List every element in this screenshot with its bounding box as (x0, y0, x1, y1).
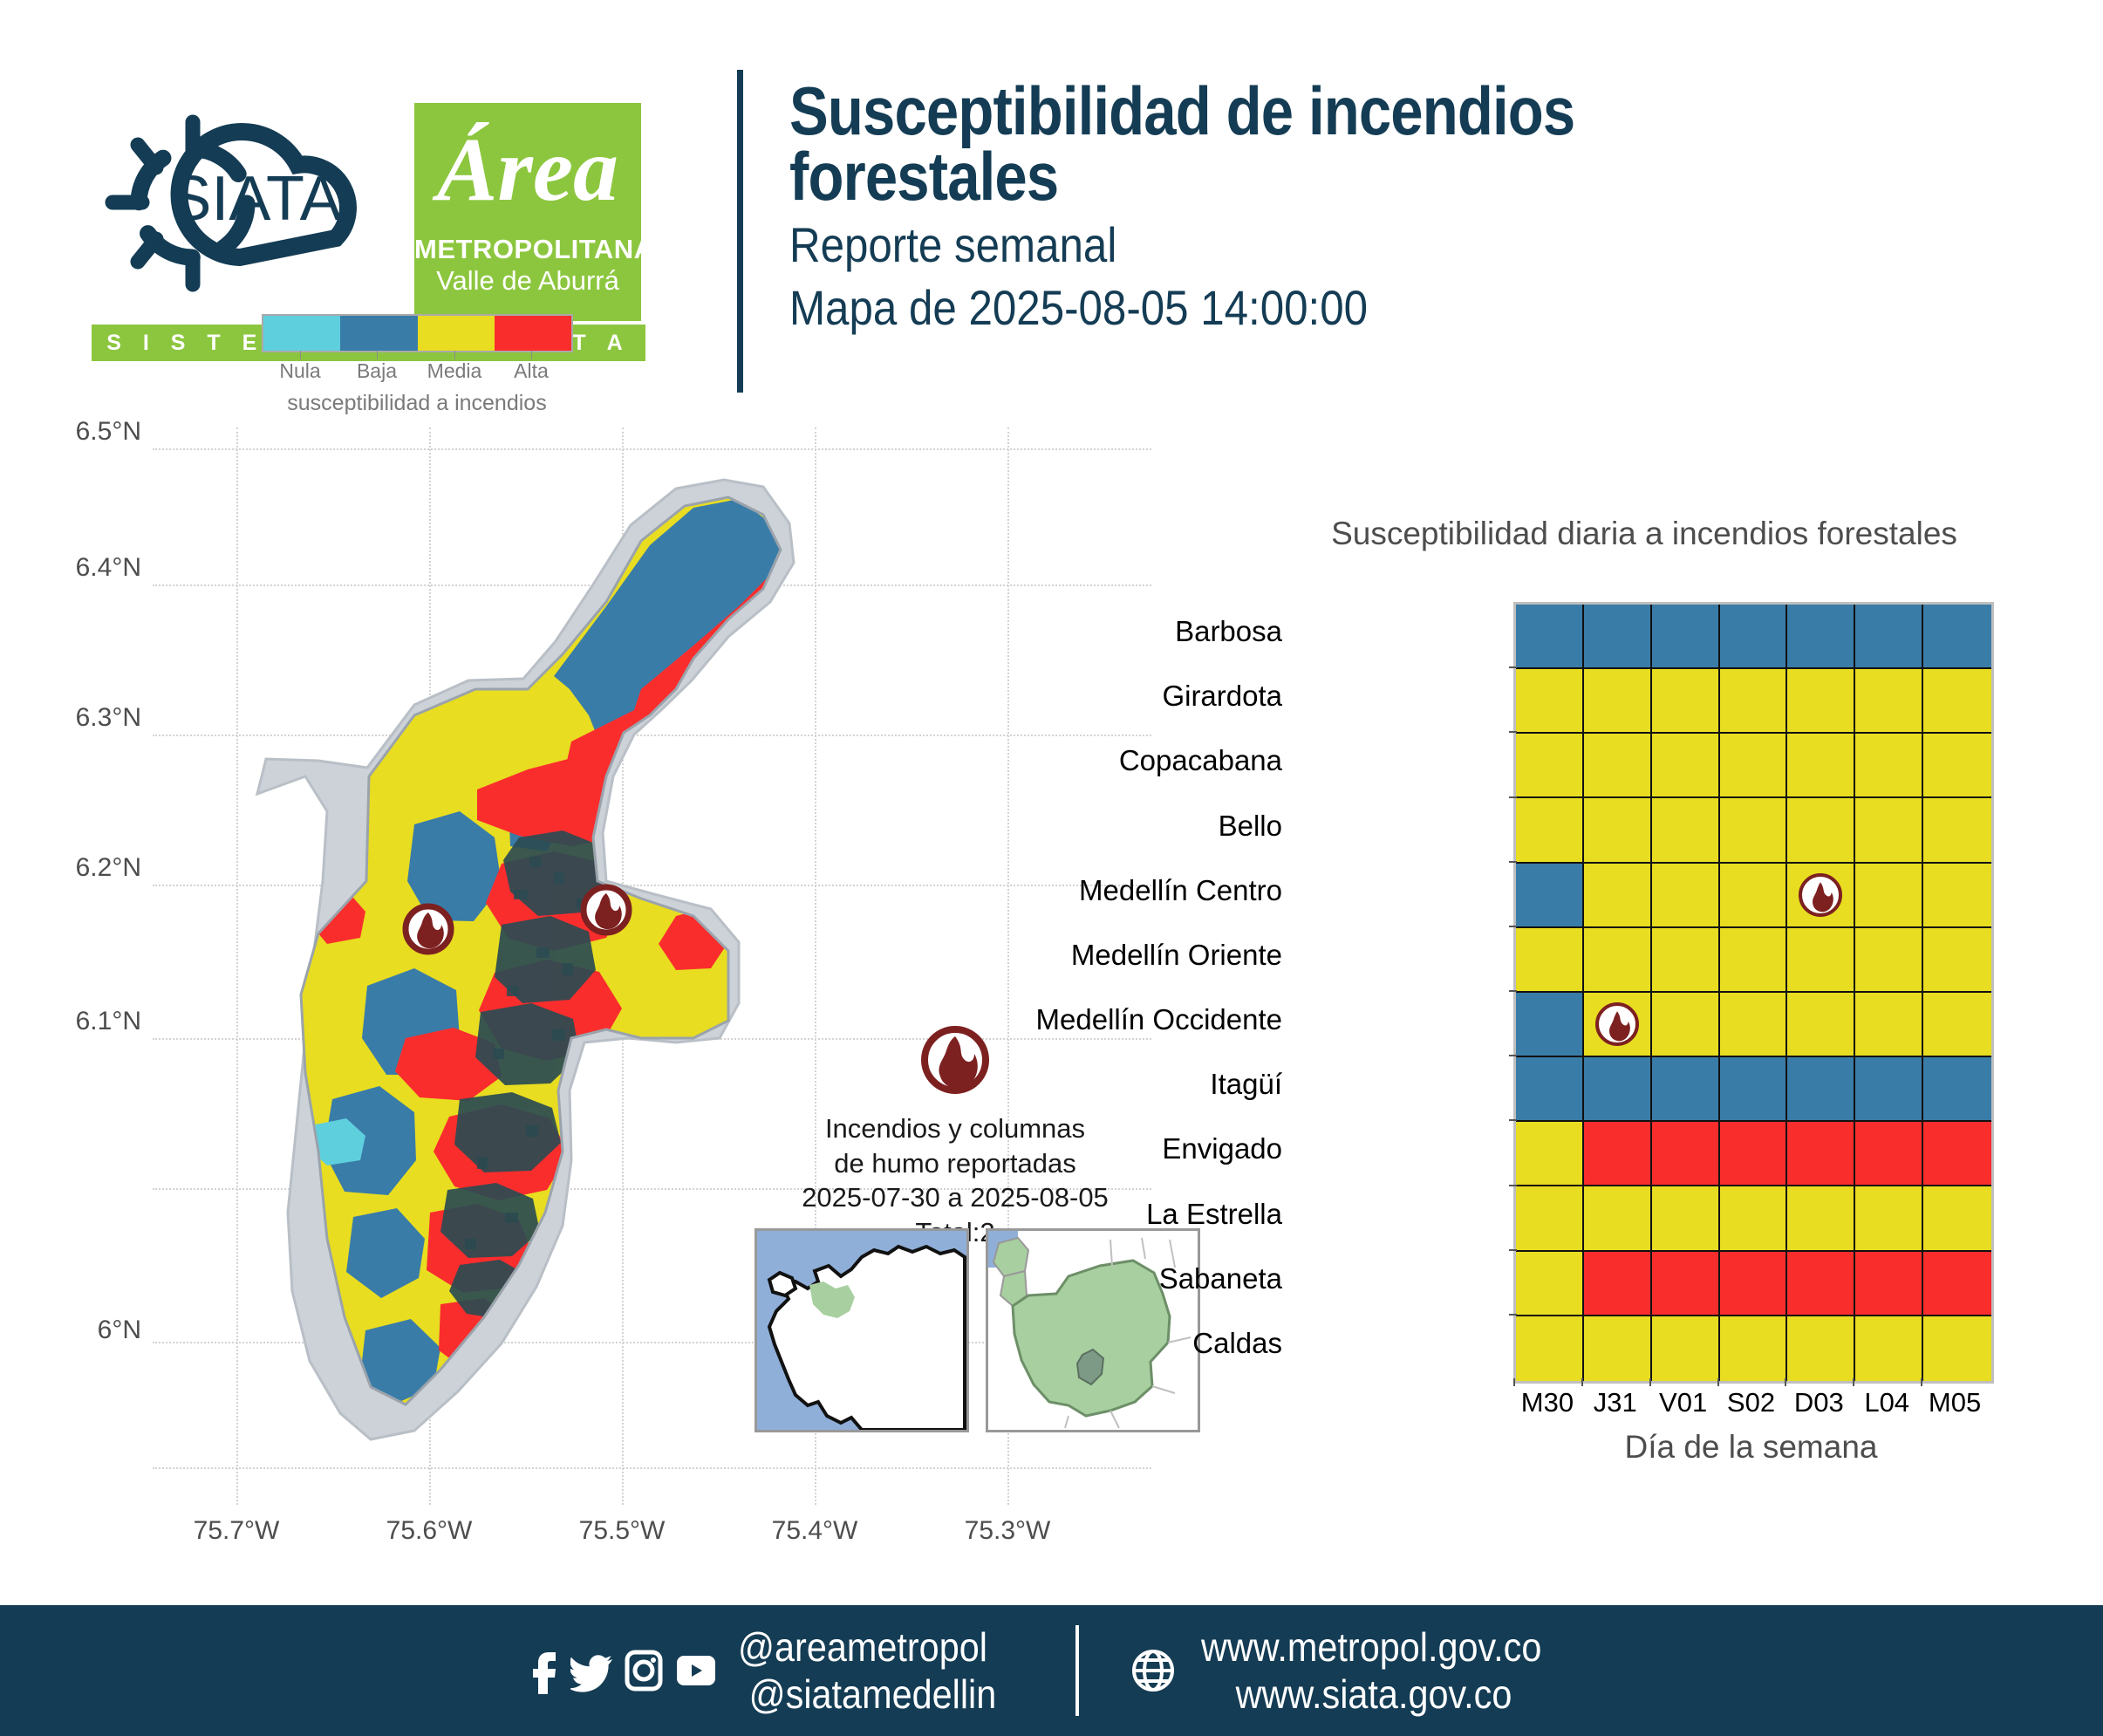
heatmap-cell[interactable] (1516, 605, 1584, 669)
heatmap-cell[interactable] (1787, 928, 1855, 993)
heatmap-cell[interactable] (1787, 864, 1855, 928)
map-xlabel: 75.5°W (543, 1516, 700, 1546)
twitter-icon[interactable] (570, 1647, 614, 1694)
heatmap-x-tick (1513, 1378, 1515, 1386)
heatmap-cell[interactable] (1584, 928, 1652, 993)
heatmap-cell[interactable] (1516, 1252, 1584, 1316)
map-xlabel: 75.3°W (929, 1516, 1086, 1546)
heatmap-cell[interactable] (1516, 798, 1584, 863)
heatmap-cell[interactable] (1787, 1316, 1855, 1381)
heatmap-cell[interactable] (1516, 1122, 1584, 1186)
heatmap-cell[interactable] (1787, 798, 1855, 863)
heatmap-x-tick (1581, 1378, 1583, 1386)
heatmap-cell[interactable] (1855, 1122, 1923, 1186)
heatmap-xaxis-title: Día de la semana (1513, 1429, 1989, 1466)
heatmap-cell[interactable] (1720, 669, 1788, 734)
website-urls: www.metropol.gov.co www.siata.gov.co (1201, 1623, 1541, 1719)
heatmap-cell[interactable] (1652, 928, 1720, 993)
heatmap-row-label-copacabana: Copacabana (794, 744, 1282, 777)
heatmap-cell[interactable] (1516, 1316, 1584, 1381)
heatmap-cell[interactable] (1516, 864, 1584, 928)
map-fire-marker[interactable] (406, 906, 451, 952)
heatmap-cell[interactable] (1652, 993, 1720, 1057)
heatmap-cell[interactable] (1720, 1316, 1788, 1381)
heatmap-cell[interactable] (1855, 1057, 1923, 1122)
globe-icon (1130, 1647, 1177, 1694)
page-title-line2: forestales (789, 144, 1885, 209)
heatmap-y-tick (1509, 731, 1517, 733)
heatmap-cell[interactable] (1855, 1316, 1923, 1381)
map-ylabel: 6.4°N (2, 553, 141, 583)
heatmap-cell[interactable] (1855, 798, 1923, 863)
heatmap-cell[interactable] (1652, 798, 1720, 863)
legend-label-alta: Alta (479, 359, 584, 383)
social-block: @areametropol @siatamedellin (523, 1623, 1025, 1719)
heatmap-cell[interactable] (1720, 1122, 1788, 1186)
siata-sun-cloud-icon: SIATA (83, 96, 449, 314)
heatmap-cell[interactable] (1584, 669, 1652, 734)
heatmap-fire-icon[interactable] (1595, 1002, 1639, 1046)
daily-susceptibility-heatmap-panel: Susceptibilidad diaria a incendios fores… (1239, 515, 2050, 1500)
legend-swatch-nula (263, 316, 340, 351)
heatmap-cell[interactable] (1720, 1252, 1788, 1316)
heatmap-row-label-barbosa: Barbosa (794, 615, 1282, 648)
legend-tick (454, 351, 455, 359)
heatmap-row-label-medellín-occidente: Medellín Occidente (794, 1003, 1282, 1036)
heatmap-cell[interactable] (1652, 1122, 1720, 1186)
heatmap-y-tick (1509, 1119, 1517, 1121)
heatmap-cell[interactable] (1584, 993, 1652, 1057)
heatmap-cell[interactable] (1652, 1316, 1720, 1381)
heatmap-cell[interactable] (1584, 734, 1652, 798)
heatmap-cell[interactable] (1720, 864, 1788, 928)
heatmap-y-tick (1509, 666, 1517, 668)
legend-swatch-baja (340, 316, 417, 351)
heatmap-cell[interactable] (1652, 734, 1720, 798)
heatmap-row-label-sabaneta: Sabaneta (794, 1262, 1282, 1295)
heatmap-cell[interactable] (1720, 928, 1788, 993)
heatmap-cell[interactable] (1923, 864, 1991, 928)
heatmap-cell[interactable] (1720, 734, 1788, 798)
handle-areametropol: @areametropol (738, 1624, 987, 1670)
heatmap-cell[interactable] (1584, 1316, 1652, 1381)
heatmap-cell[interactable] (1720, 605, 1788, 669)
heatmap-cell[interactable] (1855, 734, 1923, 798)
heatmap-cell[interactable] (1923, 928, 1991, 993)
legend-colorbar (262, 314, 573, 352)
heatmap-cell[interactable] (1787, 669, 1855, 734)
url-siata[interactable]: www.siata.gov.co (1201, 1671, 1541, 1718)
legend-swatch-alta (495, 316, 571, 351)
map-xlabel: 75.6°W (351, 1516, 508, 1546)
title-divider (737, 70, 743, 393)
heatmap-cell[interactable] (1516, 1057, 1584, 1122)
heatmap-cell[interactable] (1652, 1057, 1720, 1122)
heatmap-cell[interactable] (1584, 1252, 1652, 1316)
area-wordmark: Área (414, 105, 641, 236)
heatmap-y-tick (1509, 1055, 1517, 1056)
social-handles: @areametropol @siatamedellin (738, 1623, 996, 1719)
heatmap-cell[interactable] (1855, 1186, 1923, 1251)
heatmap-x-tick (1853, 1378, 1854, 1386)
map-fire-marker[interactable] (584, 887, 629, 933)
heatmap-cell[interactable] (1923, 669, 1991, 734)
web-block: www.metropol.gov.co www.siata.gov.co (1130, 1623, 1580, 1719)
map-ylabel: 6°N (2, 1316, 141, 1345)
heatmap-cell[interactable] (1720, 798, 1788, 863)
heatmap-cell[interactable] (1720, 1186, 1788, 1251)
heatmap-row-label-bello: Bello (794, 810, 1282, 843)
legend-tick (531, 351, 532, 359)
heatmap-fire-icon[interactable] (1799, 873, 1842, 917)
report-footer: @areametropol @siatamedellin www.metropo… (0, 1605, 2103, 1736)
heatmap-cell[interactable] (1516, 1186, 1584, 1251)
heatmap-cell[interactable] (1923, 1122, 1991, 1186)
heatmap-row-label-envigado: Envigado (794, 1132, 1282, 1165)
heatmap-cell[interactable] (1516, 734, 1584, 798)
heatmap-cell[interactable] (1923, 1316, 1991, 1381)
area-valle-label: Valle de Aburrá (414, 265, 641, 297)
heatmap-y-tick (1509, 926, 1517, 927)
heatmap-cell[interactable] (1584, 864, 1652, 928)
svg-text:SIATA: SIATA (169, 164, 341, 234)
heatmap-cell[interactable] (1855, 1252, 1923, 1316)
heatmap-row-label-girardota: Girardota (794, 680, 1282, 713)
susceptibility-map-panel: Nula Baja Media Alta susceptibilidad a i… (35, 410, 1204, 1588)
heatmap-cell[interactable] (1516, 993, 1584, 1057)
heatmap-cell[interactable] (1584, 1057, 1652, 1122)
map-ylabel: 6.1°N (2, 1007, 141, 1036)
map-xlabel: 75.7°W (158, 1516, 315, 1546)
footer-divider (1075, 1625, 1079, 1716)
heatmap-x-tick (1649, 1378, 1651, 1386)
heatmap-cell[interactable] (1923, 1057, 1991, 1122)
heatmap-title: Susceptibilidad diaria a incendios fores… (1239, 515, 2050, 553)
heatmap-cell[interactable] (1855, 864, 1923, 928)
heatmap-cell[interactable] (1923, 1186, 1991, 1251)
heatmap-cell[interactable] (1855, 605, 1923, 669)
heatmap-row-label-itagüí: Itagüí (794, 1068, 1282, 1101)
heatmap-cell[interactable] (1923, 1252, 1991, 1316)
heatmap-cell[interactable] (1855, 928, 1923, 993)
heatmap-cell[interactable] (1855, 669, 1923, 734)
heatmap-cell[interactable] (1652, 605, 1720, 669)
legend-tick (300, 351, 301, 359)
heatmap-cell[interactable] (1516, 928, 1584, 993)
heatmap-cell[interactable] (1787, 1252, 1855, 1316)
facebook-icon[interactable] (523, 1647, 562, 1694)
report-subtitle: Reporte semanal (789, 218, 1910, 273)
map-ylabel: 6.3°N (2, 703, 141, 733)
area-metropolitana-label: METROPOLITANA (414, 234, 641, 265)
title-block: Susceptibilidad de incendios forestales … (789, 79, 2063, 336)
map-ylabel: 6.2°N (2, 853, 141, 883)
heatmap-cell[interactable] (1584, 798, 1652, 863)
heatmap-y-tick (1509, 861, 1517, 863)
map-xlabel: 75.4°W (736, 1516, 893, 1546)
heatmap-cell[interactable] (1584, 1186, 1652, 1251)
url-metropol[interactable]: www.metropol.gov.co (1201, 1624, 1541, 1670)
heatmap-y-tick (1509, 796, 1517, 798)
page-title-line1: Susceptibilidad de incendios (789, 79, 1885, 144)
instagram-icon[interactable] (623, 1647, 665, 1694)
handle-siatamedellin: @siatamedellin (738, 1671, 996, 1718)
heatmap-y-tick (1509, 1185, 1517, 1186)
heatmap-cell[interactable] (1720, 993, 1788, 1057)
susceptibility-legend: Nula Baja Media Alta susceptibilidad a i… (262, 314, 576, 352)
heatmap-y-tick (1509, 1249, 1517, 1251)
heatmap-row-label-la-estrella: La Estrella (794, 1198, 1282, 1231)
legend-caption: susceptibilidad a incendios (251, 391, 583, 416)
heatmap-row-label-caldas: Caldas (794, 1327, 1282, 1360)
heatmap-x-tick (1717, 1378, 1719, 1386)
heatmap-y-tick (1509, 1314, 1517, 1316)
heatmap-cell[interactable] (1787, 605, 1855, 669)
area-metropolitana-logo: Área METROPOLITANA Valle de Aburrá (414, 103, 641, 321)
heatmap-row-label-medellín-oriente: Medellín Oriente (794, 939, 1282, 972)
legend-tick (377, 351, 378, 359)
heatmap-x-tick (1921, 1378, 1922, 1386)
heatmap-x-tick (1785, 1378, 1786, 1386)
heatmap-grid[interactable] (1513, 602, 1994, 1384)
heatmap-cell[interactable] (1584, 605, 1652, 669)
heatmap-cell[interactable] (1855, 993, 1923, 1057)
heatmap-cell[interactable] (1787, 1057, 1855, 1122)
youtube-icon[interactable] (673, 1647, 719, 1694)
report-timestamp: Mapa de 2025-08-05 14:00:00 (789, 281, 1910, 336)
legend-swatch-media (418, 316, 495, 351)
heatmap-cell[interactable] (1516, 669, 1584, 734)
heatmap-cell[interactable] (1652, 669, 1720, 734)
heatmap-y-tick (1509, 990, 1517, 992)
heatmap-cell[interactable] (1652, 1252, 1720, 1316)
heatmap-cell[interactable] (1787, 1122, 1855, 1186)
heatmap-cell[interactable] (1923, 734, 1991, 798)
heatmap-cell[interactable] (1584, 1122, 1652, 1186)
heatmap-cell[interactable] (1923, 605, 1991, 669)
heatmap-cell[interactable] (1652, 1186, 1720, 1251)
heatmap-cell[interactable] (1923, 993, 1991, 1057)
heatmap-cell[interactable] (1652, 864, 1720, 928)
map-ylabel: 6.5°N (2, 417, 141, 447)
heatmap-row-label-medellín-centro: Medellín Centro (794, 874, 1282, 907)
heatmap-cell[interactable] (1787, 1186, 1855, 1251)
heatmap-cell[interactable] (1787, 734, 1855, 798)
heatmap-cell[interactable] (1923, 798, 1991, 863)
heatmap-cell[interactable] (1787, 993, 1855, 1057)
heatmap-col-label-m05: M05 (1902, 1387, 2007, 1418)
heatmap-cell[interactable] (1720, 1057, 1788, 1122)
